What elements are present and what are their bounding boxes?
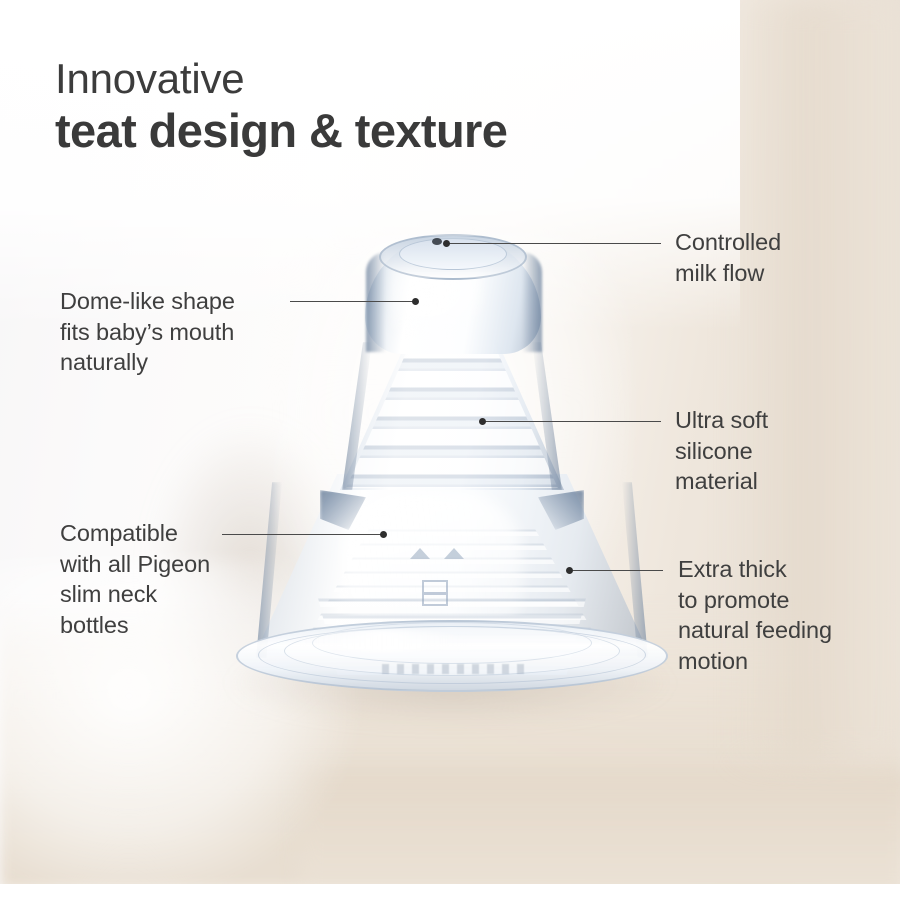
callout-controlled-milk-flow: Controlled milk flow [675, 227, 781, 288]
callout-line: fits baby’s mouth [60, 317, 235, 348]
callout-line: to promote [678, 585, 832, 616]
leader-dot-controlled-milk-flow [443, 240, 450, 247]
leader-line-dome-like-shape [290, 301, 416, 302]
callout-compatible-slim-neck: Compatible with all Pigeon slim neck bot… [60, 518, 210, 640]
callout-dome-like-shape: Dome-like shape fits baby’s mouth natura… [60, 286, 235, 378]
teat-dome-edge-left [366, 252, 386, 352]
leader-line-ultra-soft-silicone [485, 421, 661, 422]
callout-line: material [675, 466, 768, 497]
background-table-edge [300, 770, 900, 890]
leader-line-extra-thick [572, 570, 663, 571]
callout-line: bottles [60, 610, 210, 641]
product-feature-graphic: Innovative teat design & texture Control… [0, 0, 900, 900]
callout-line: with all Pigeon [60, 549, 210, 580]
leader-dot-ultra-soft-silicone [479, 418, 486, 425]
callout-line: naturally [60, 347, 235, 378]
teat-flange-embossed-text [382, 664, 532, 674]
title-line-2: teat design & texture [55, 105, 675, 158]
teat-emboss-mark-c [422, 580, 448, 606]
teat-dome-edge-right [522, 252, 542, 352]
callout-line: Controlled [675, 227, 781, 258]
callout-extra-thick-feeding-motion: Extra thick to promote natural feeding m… [678, 554, 832, 676]
background-bottom-strip [0, 884, 900, 900]
leader-dot-compatible [380, 531, 387, 538]
callout-line: Extra thick [678, 554, 832, 585]
callout-line: motion [678, 646, 832, 677]
silicone-teat-product-image [232, 222, 672, 692]
title-line-1: Innovative [55, 58, 675, 100]
leader-dot-extra-thick [566, 567, 573, 574]
callout-line: silicone [675, 436, 768, 467]
callout-ultra-soft-silicone-material: Ultra soft silicone material [675, 405, 768, 497]
callout-line: slim neck [60, 579, 210, 610]
teat-milk-flow-hole [432, 238, 442, 245]
page-title: Innovative teat design & texture [55, 58, 675, 158]
leader-line-compatible [222, 534, 382, 535]
teat-flange-gloss [292, 630, 472, 652]
callout-line: Compatible [60, 518, 210, 549]
leader-dot-dome-like-shape [412, 298, 419, 305]
callout-line: natural feeding [678, 615, 832, 646]
leader-line-controlled-milk-flow [447, 243, 661, 244]
callout-line: Ultra soft [675, 405, 768, 436]
callout-line: Dome-like shape [60, 286, 235, 317]
callout-line: milk flow [675, 258, 781, 289]
